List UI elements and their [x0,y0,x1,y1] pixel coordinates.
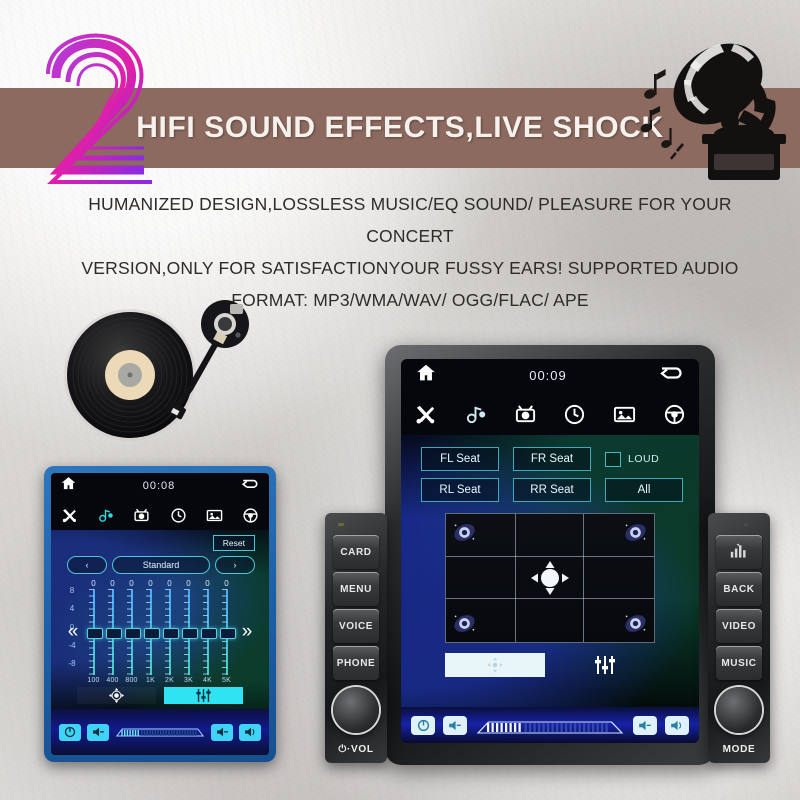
left-hard-buttons: CARD MENU VOICE PHONE [333,535,379,680]
speaker-icon [623,520,648,545]
equalizer-panel: Reset ‹ Standard › 8 4 0 -4 -8 « 0 [51,530,269,709]
eq-band-freq: 400 [106,675,118,686]
clock-display: 00:08 [143,480,176,492]
speaker-icon [452,611,477,636]
eq-band-knob[interactable] [201,628,217,639]
eq-band-freq: 4K [203,675,212,686]
reset-button[interactable]: Reset [213,535,255,551]
right-unit-screen: 00:09 [401,359,699,743]
eq-band[interactable]: 0 4K [199,578,216,686]
hard-button-back[interactable]: BACK [716,572,762,606]
equalizer-icon[interactable] [555,653,655,677]
power-icon[interactable] [411,716,435,735]
tools-icon[interactable] [414,403,437,426]
hard-button-voice[interactable]: VOICE [333,609,379,643]
tv-camera-icon[interactable] [133,507,150,524]
loud-toggle[interactable]: LOUD [605,447,683,471]
right-unit-tabs [401,395,699,433]
power-icon[interactable] [59,724,81,741]
eq-preset-row: ‹ Standard › [67,556,255,574]
music-settings-icon[interactable] [464,403,487,426]
subcopy-line-1: HUMANIZED DESIGN,LOSSLESS MUSIC/EQ SOUND… [60,188,760,252]
eq-band-freq: 100 [87,675,99,686]
right-head-unit: 00:09 [385,345,715,765]
seat-button-fl[interactable]: FL Seat [421,447,499,471]
eq-band-value: 0 [91,578,95,589]
steering-wheel-icon[interactable] [242,507,259,524]
left-unit-bottom-bar [51,709,269,755]
hard-button-video[interactable]: VIDEO [716,609,762,643]
eq-band-value: 0 [224,578,228,589]
volume-down-icon[interactable] [87,724,109,741]
clock-icon[interactable] [563,403,586,426]
equalizer-bars-icon [730,543,748,562]
right-hard-buttons: BACK VIDEO MUSIC [716,535,762,680]
loud-checkbox[interactable] [605,452,621,467]
eq-band-value: 0 [129,578,133,589]
eq-band-value: 0 [186,578,190,589]
mode-knob[interactable] [716,687,762,733]
eq-band[interactable]: 0 3K [180,578,197,686]
right-unit-topbar: 00:09 [401,359,699,391]
eq-band-track[interactable] [150,589,152,675]
eq-band[interactable]: 0 800 [123,578,140,686]
eq-band-freq: 3K [184,675,193,686]
eq-band-track[interactable] [93,589,95,675]
sound-field-icon[interactable] [77,687,156,704]
right-side-button-panel: BACK VIDEO MUSIC MODE [708,513,770,763]
preset-name[interactable]: Standard [112,556,210,574]
left-unit-mode-row [77,687,243,704]
eq-band-track[interactable] [169,589,171,675]
eq-band-track[interactable] [207,589,209,675]
eq-band[interactable]: 0 400 [104,578,121,686]
clock-icon[interactable] [170,507,187,524]
music-settings-icon[interactable] [97,507,114,524]
hard-button-equalizer[interactable] [716,535,762,569]
speaker-icon [452,520,477,545]
clock-display: 00:09 [529,368,567,383]
eq-band-value: 0 [205,578,209,589]
eq-band-list: 0 100 0 400 0 800 0 [81,578,239,686]
eq-band-track[interactable] [226,589,228,675]
eq-sliders: « 0 100 0 400 0 800 [65,578,255,686]
seat-button-rl[interactable]: RL Seat [421,478,499,502]
eq-band-freq: 2K [165,675,174,686]
eq-band-knob[interactable] [106,628,122,639]
volume-down-icon[interactable] [443,716,467,735]
eq-band-knob[interactable] [87,628,103,639]
tools-icon[interactable] [61,507,78,524]
seat-button-all[interactable]: All [605,478,683,502]
gramophone-icon [648,22,798,187]
seat-selection-grid: FL Seat FR Seat LOUD RL Seat RR Seat All [421,447,683,502]
volume-mute-icon[interactable] [633,716,657,735]
volume-knob[interactable] [333,687,379,733]
status-led [338,523,344,526]
eq-band-track[interactable] [131,589,133,675]
left-head-unit: 00:08 [44,466,276,762]
eq-band-track[interactable] [188,589,190,675]
mode-knob-label: MODE [708,744,770,755]
hard-button-music[interactable]: MUSIC [716,646,762,680]
back-arrow-icon[interactable] [659,363,685,387]
preset-prev-button[interactable]: ‹ [67,556,107,574]
eq-band-knob[interactable] [163,628,179,639]
hard-button-phone[interactable]: PHONE [333,646,379,680]
preset-next-button[interactable]: › [215,556,255,574]
steering-wheel-icon[interactable] [663,403,686,426]
right-unit-bottom-bar [401,707,699,743]
volume-level-meter[interactable] [475,718,625,733]
eq-band[interactable]: 0 5K [218,578,235,686]
left-unit-topbar: 00:08 [51,473,269,498]
volume-mute-icon[interactable] [211,724,233,741]
tv-camera-icon[interactable] [514,403,537,426]
eq-band[interactable]: 0 1K [142,578,159,686]
hard-button-menu[interactable]: MENU [333,572,379,606]
left-unit-screen: 00:08 [51,473,269,755]
loud-label: LOUD [628,453,659,465]
back-arrow-icon[interactable] [241,476,260,496]
volume-level-meter[interactable] [115,725,205,740]
eq-band[interactable]: 0 2K [161,578,178,686]
hard-button-card[interactable]: CARD [333,535,379,569]
seat-button-fr[interactable]: FR Seat [513,447,591,471]
seat-button-rr[interactable]: RR Seat [513,478,591,502]
position-joystick-icon[interactable] [530,560,570,596]
equalizer-icon[interactable] [164,687,243,704]
eq-band-knob[interactable] [182,628,198,639]
speaker-icon [623,611,648,636]
gallery-icon[interactable] [613,403,636,426]
eq-band-value: 0 [148,578,152,589]
volume-up-icon[interactable] [665,716,689,735]
sound-field-panel: FL Seat FR Seat LOUD RL Seat RR Seat All [401,435,699,707]
eq-band-freq: 5K [222,675,231,686]
eq-band-freq: 1K [146,675,155,686]
section-number-2 [34,30,164,210]
eq-band-knob[interactable] [220,628,236,639]
sound-field-grid[interactable] [445,513,655,643]
eq-band-knob[interactable] [125,628,141,639]
volume-up-icon[interactable] [239,724,261,741]
home-icon[interactable] [60,475,77,497]
left-side-button-panel: CARD MENU VOICE PHONE ⏻·VOL [325,513,387,763]
eq-band-knob[interactable] [144,628,160,639]
eq-band-value: 0 [110,578,114,589]
gallery-icon[interactable] [206,507,223,524]
eq-band[interactable]: 0 100 [85,578,102,686]
right-unit-mode-row [445,653,655,677]
eq-page-next-icon[interactable]: » [239,578,255,686]
turntable-vinyl-icon [62,292,267,457]
subcopy-line-2: VERSION,ONLY FOR SATISFACTIONYOUR FUSSY … [60,252,760,284]
eq-band-freq: 800 [125,675,137,686]
eq-page-prev-icon[interactable]: « [65,578,81,686]
status-led [744,523,748,527]
home-icon[interactable] [415,362,437,389]
eq-band-track[interactable] [112,589,114,675]
sound-field-icon[interactable] [445,653,545,677]
left-unit-tabs [51,500,269,530]
volume-knob-label: ⏻·VOL [325,744,387,755]
eq-band-value: 0 [167,578,171,589]
